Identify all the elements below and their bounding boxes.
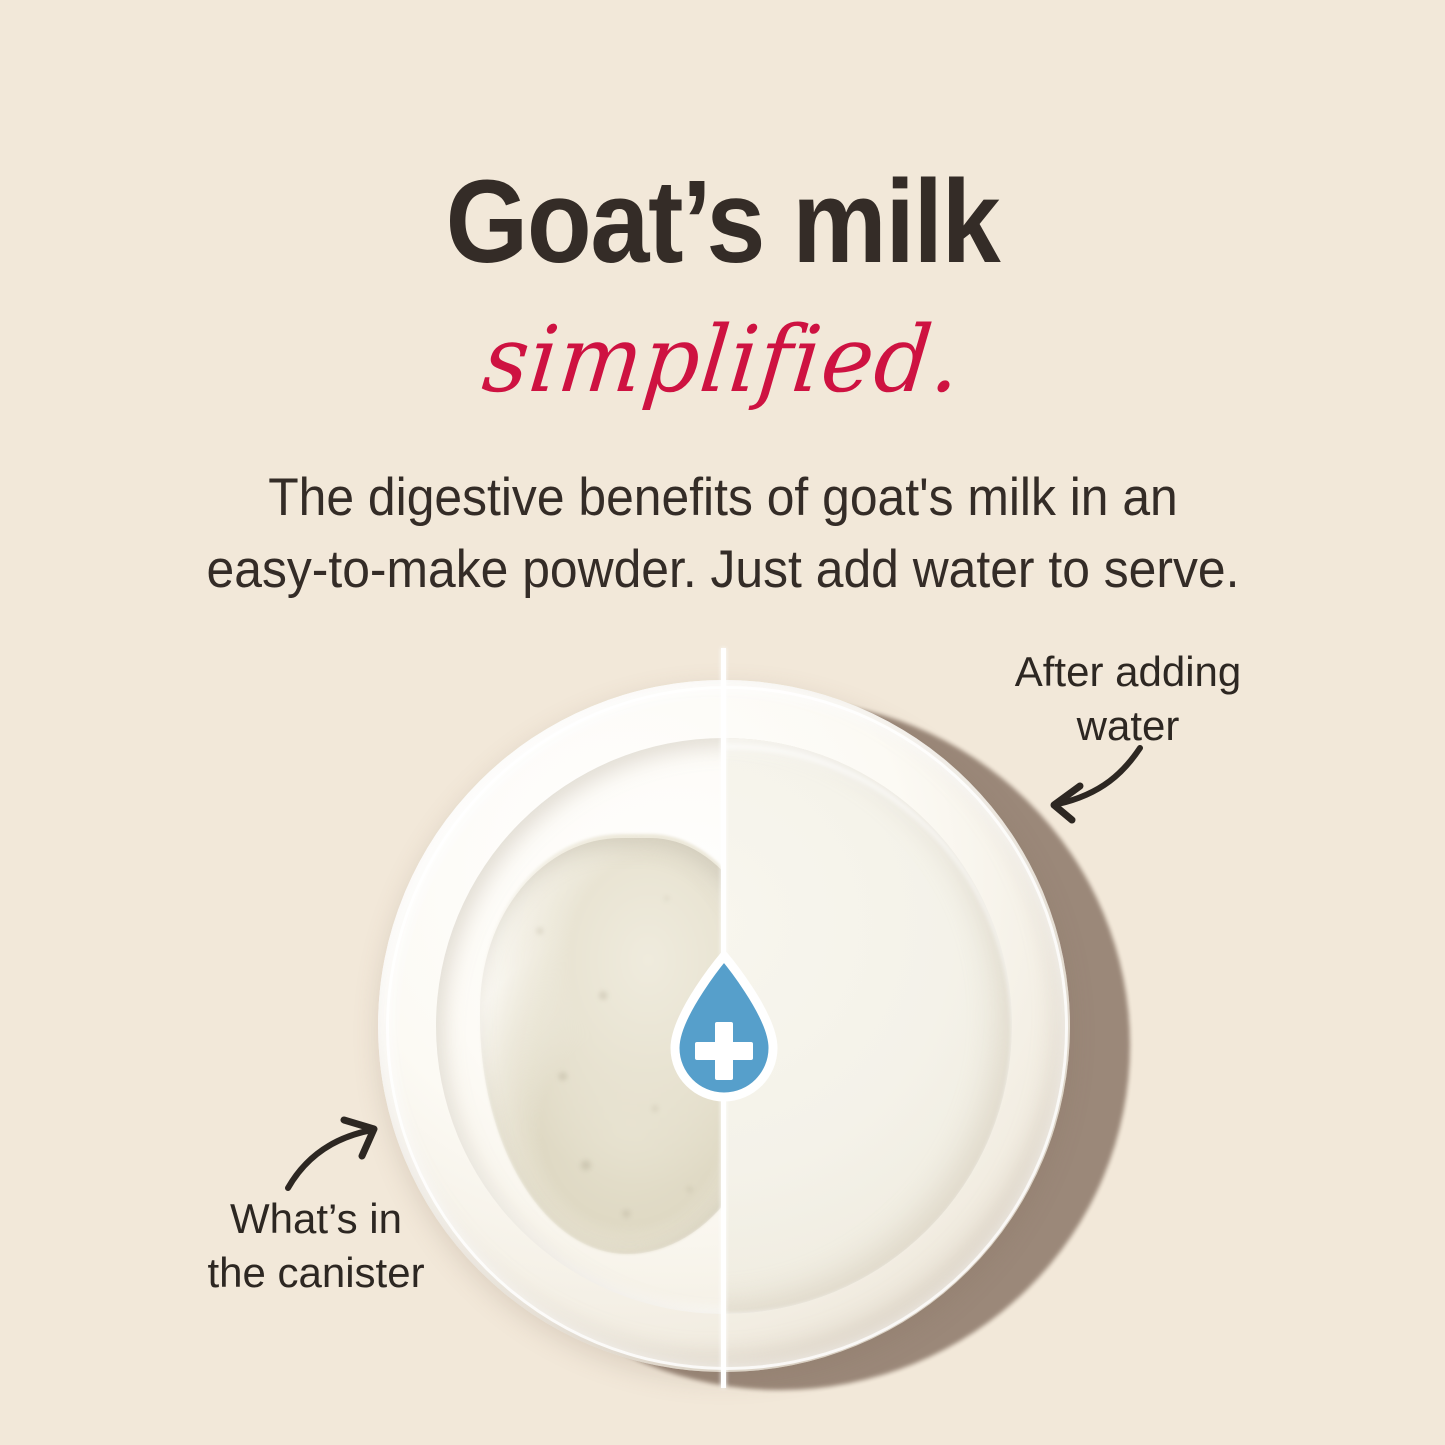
product-comparison-stage: After adding water What’s in the caniste… (0, 0, 1445, 1445)
label-right-line-1: After adding (978, 645, 1278, 699)
product-infographic-poster: Goat’s milk simplified. The digestive be… (0, 0, 1445, 1445)
label-after-adding-water: After adding water (978, 645, 1278, 753)
label-whats-in-the-canister: What’s in the canister (166, 1192, 466, 1300)
water-drop-plus-icon (661, 952, 787, 1102)
label-left-line-1: What’s in (166, 1192, 466, 1246)
curved-arrow-up-right-icon (282, 1112, 392, 1196)
label-left-line-2: the canister (166, 1246, 466, 1300)
curved-arrow-down-left-icon (1028, 742, 1148, 828)
